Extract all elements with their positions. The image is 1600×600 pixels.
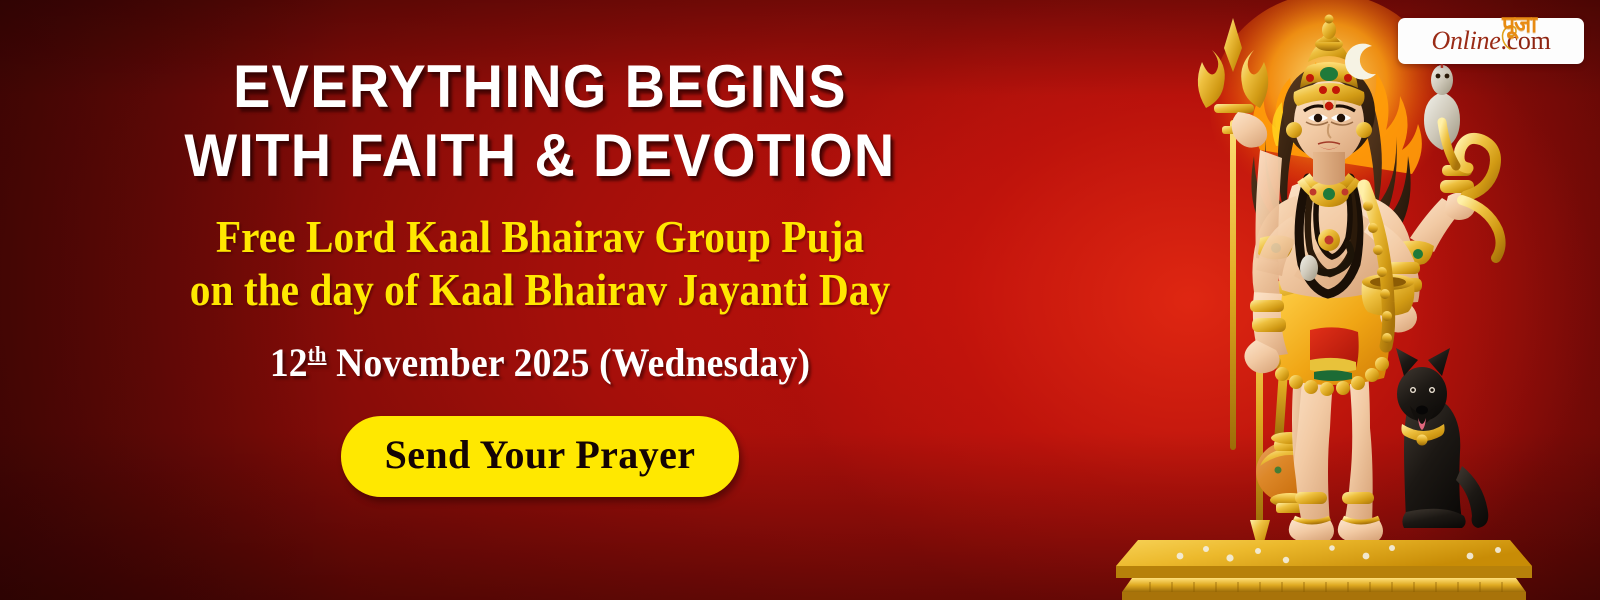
- event-date-rest: November 2025 (Wednesday): [327, 340, 811, 385]
- brand-script-devanagari: पूजा: [1502, 13, 1536, 36]
- headline: EVERYTHING BEGINS WITH FAITH & DEVOTION: [38, 0, 1042, 186]
- subheadline: Free Lord Kaal Bhairav Group Puja on the…: [54, 186, 1026, 318]
- promo-banner: EVERYTHING BEGINS WITH FAITH & DEVOTION …: [0, 0, 1600, 600]
- send-your-prayer-button[interactable]: Send Your Prayer: [341, 416, 740, 497]
- golden-pedestal-icon: [1116, 540, 1532, 600]
- event-date-day: 12: [270, 340, 308, 385]
- brand-logo-inner: Online.com पूजा: [1398, 18, 1584, 64]
- black-dog-icon: [1396, 348, 1488, 528]
- event-date: 12th November 2025 (Wednesday): [32, 317, 1047, 386]
- subheadline-line-2: on the day of Kaal Bhairav Jayanti Day: [54, 263, 1026, 317]
- brand-prefix: Online: [1431, 26, 1500, 55]
- subheadline-line-1: Free Lord Kaal Bhairav Group Puja: [54, 210, 1026, 264]
- headline-line-1: EVERYTHING BEGINS: [38, 0, 1042, 117]
- banner-copy: EVERYTHING BEGINS WITH FAITH & DEVOTION …: [0, 0, 1080, 600]
- headline-line-2: WITH FAITH & DEVOTION: [38, 117, 1042, 186]
- event-date-ordinal: th: [308, 342, 327, 367]
- brand-logo[interactable]: Online.com पूजा: [1398, 18, 1584, 64]
- lord-kaal-bhairav-illustration: [1110, 0, 1540, 600]
- cta-wrapper: Send Your Prayer: [0, 386, 1080, 497]
